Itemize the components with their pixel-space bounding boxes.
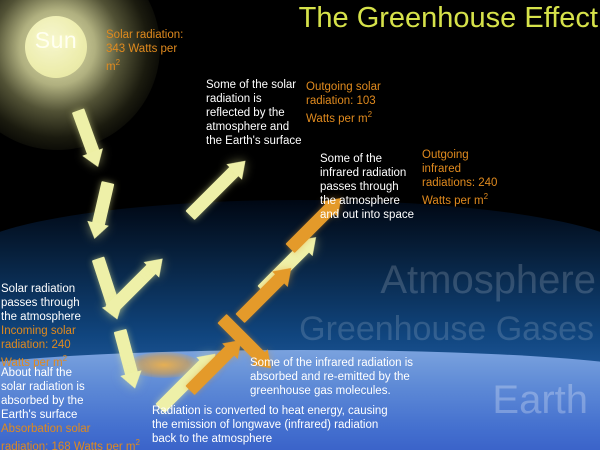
annotation-absorbed-half: About half the solar radiation is absorb… — [1, 366, 123, 422]
annotation-heat-conversion: Radiation is converted to heat energy, c… — [152, 404, 452, 446]
page-title: The Greenhouse Effect — [299, 2, 598, 35]
annotation-reemitted-by-ghg: Some of the infrared radiation is absorb… — [250, 356, 480, 398]
annotation-solar-radiation-source: Solar radiation: 343 Watts per m2 — [106, 28, 206, 74]
greenhouse-effect-diagram: Atmosphere Greenhouse Gases Earth Sun Th… — [0, 0, 600, 450]
sun-label: Sun — [25, 27, 87, 54]
annotation-reflected-radiation: Some of the solar radiation is reflected… — [206, 78, 310, 148]
annotation-absorbation-solar: Absorbation solar radiation: 168 Watts p… — [1, 422, 171, 450]
annotation-solar-passes-through: Solar radiation passes through the atmos… — [1, 282, 121, 324]
annotation-infrared-escape: Some of the infrared radiation passes th… — [320, 152, 424, 222]
annotation-incoming-solar: Incoming solar radiation: 240 Watts per … — [1, 324, 121, 370]
watermark-atmosphere: Atmosphere — [380, 258, 596, 303]
annotation-outgoing-solar: Outgoing solar radiation: 103 Watts per … — [306, 80, 404, 126]
watermark-earth: Earth — [492, 378, 588, 423]
annotation-outgoing-infrared: Outgoing infrared radiations: 240 Watts … — [422, 148, 518, 208]
watermark-greenhouse-gases: Greenhouse Gases — [299, 310, 594, 349]
